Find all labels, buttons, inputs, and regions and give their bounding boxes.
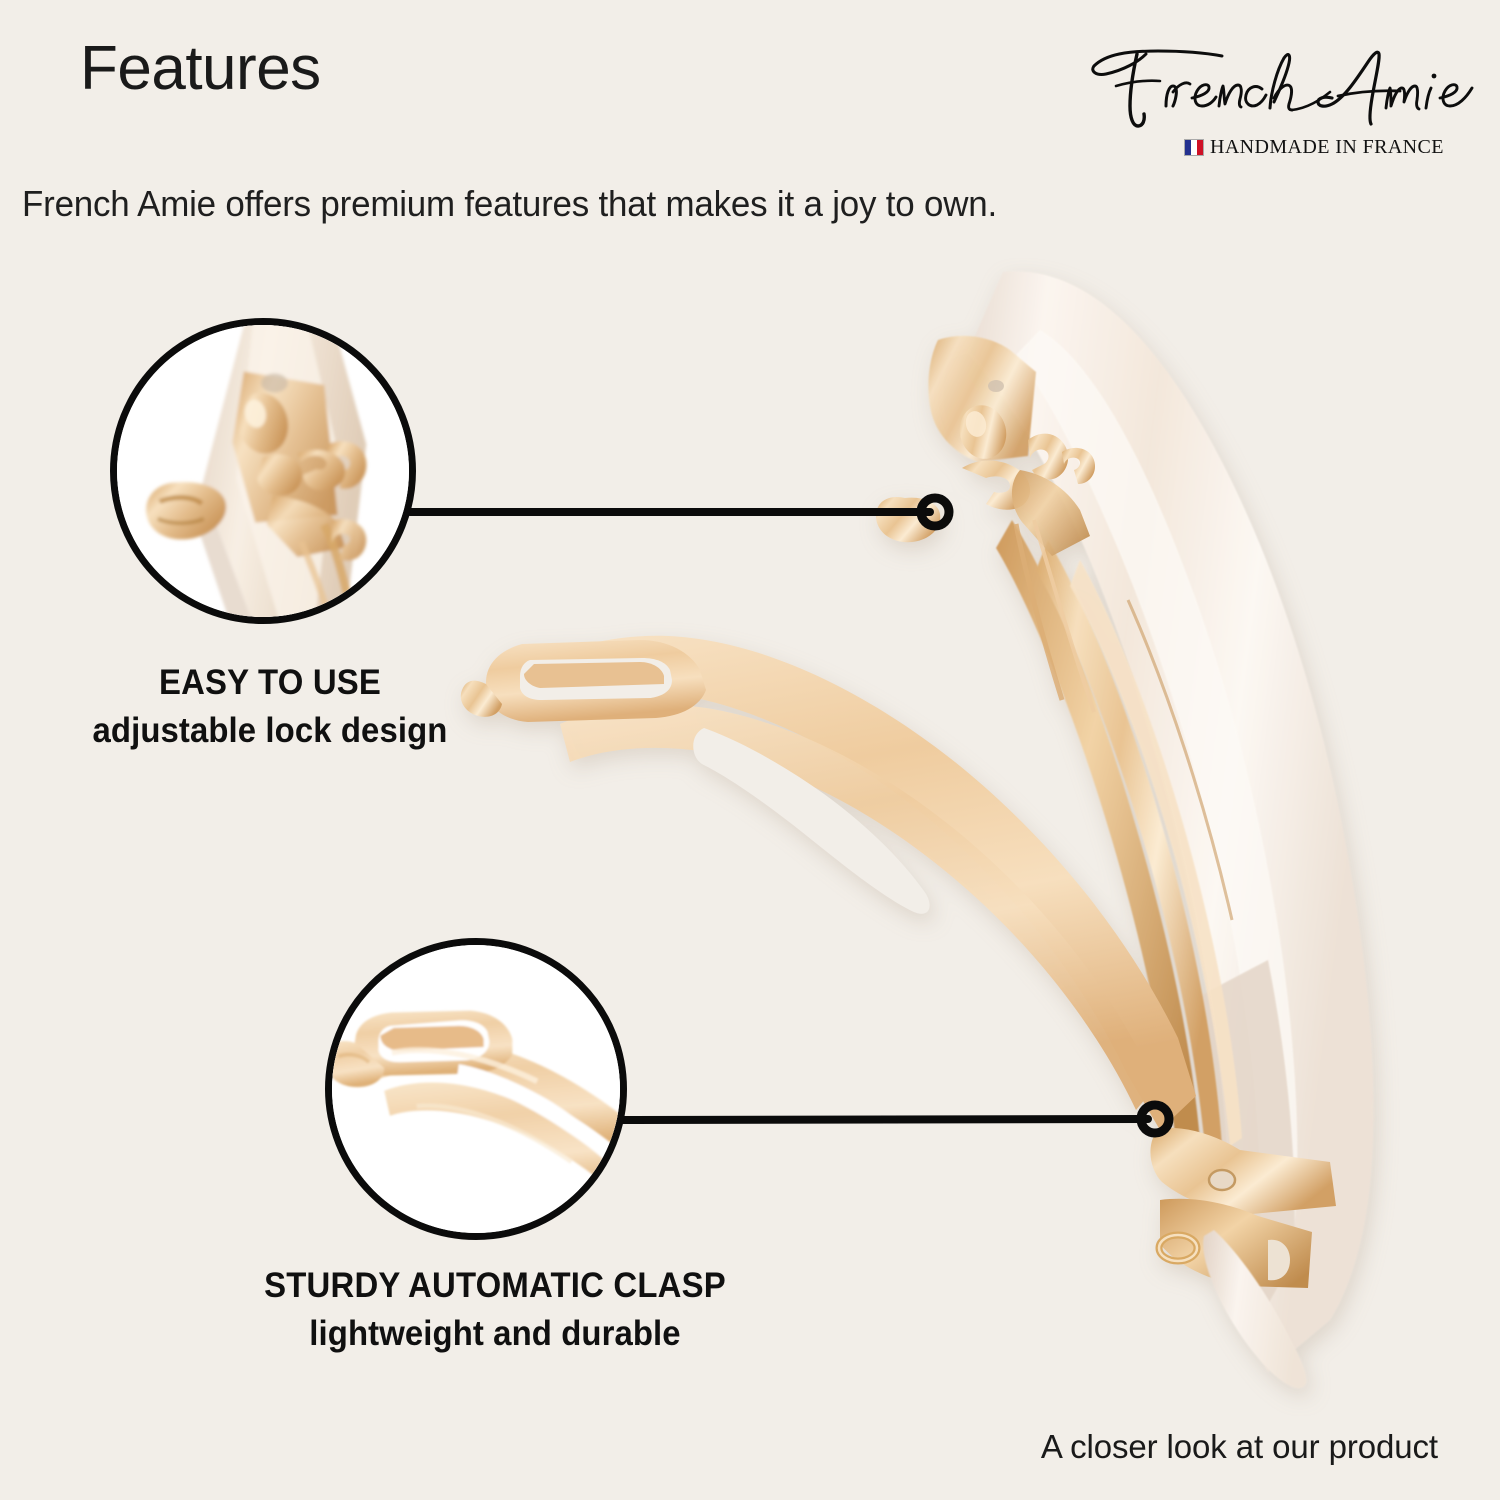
magnifier-sturdy-clasp[interactable]: [325, 938, 627, 1240]
magnifier-easy-to-use[interactable]: [110, 318, 416, 624]
callout-sturdy-clasp: STURDY AUTOMATIC CLASP lightweight and d…: [155, 1265, 835, 1356]
leader-line-sturdy-clasp: [620, 1105, 1169, 1133]
callout-subtitle-easy-to-use: adjustable lock design: [16, 710, 524, 753]
callout-easy-to-use: EASY TO USE adjustable lock design: [0, 662, 540, 753]
callout-title-sturdy-clasp: STURDY AUTOMATIC CLASP: [175, 1265, 814, 1306]
magnified-clasp-detail: [325, 938, 627, 1240]
infographic-canvas: Features French Amie offers premium feat…: [0, 0, 1500, 1500]
callout-title-easy-to-use: EASY TO USE: [16, 662, 524, 703]
callout-subtitle-sturdy-clasp: lightweight and durable: [175, 1313, 814, 1356]
footer-caption: A closer look at our product: [1041, 1428, 1438, 1466]
leader-line-easy-to-use: [410, 498, 949, 526]
magnified-lock-detail: [110, 318, 416, 624]
